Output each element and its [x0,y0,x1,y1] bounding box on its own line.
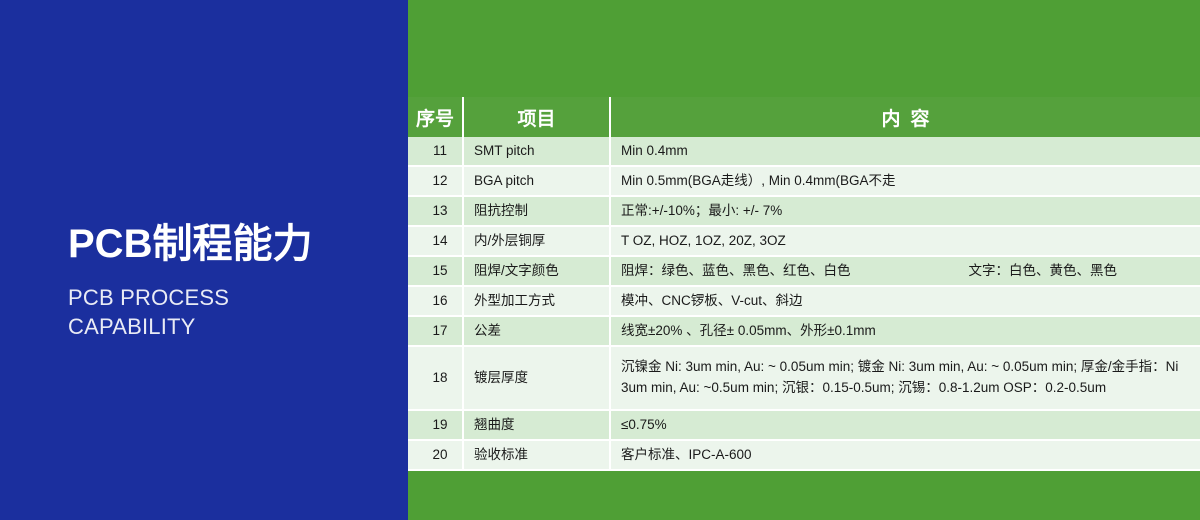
spec-table-wrap: 序号 项目 内容 11SMT pitchMin 0.4mm12BGA pitch… [408,97,1200,471]
row-content-main: Min 0.5mm(BGA走线）, Min 0.4mm(BGA不走 [621,173,896,188]
spec-table-head: 序号 项目 内容 [408,97,1200,137]
row-content: 正常:+/-10%；最小: +/- 7% [610,196,1200,226]
row-content: 阻焊：绿色、蓝色、黑色、红色、白色文字：白色、黄色、黑色 [610,256,1200,286]
row-number: 11 [408,137,463,166]
row-item-name: 公差 [463,316,610,346]
row-content: 模冲、CNC锣板、V-cut、斜边 [610,286,1200,316]
table-row: 18镀层厚度沉镍金 Ni: 3um min, Au: ~ 0.05um min;… [408,346,1200,410]
row-number: 15 [408,256,463,286]
row-number: 16 [408,286,463,316]
table-row: 12BGA pitchMin 0.5mm(BGA走线）, Min 0.4mm(B… [408,166,1200,196]
row-content: 沉镍金 Ni: 3um min, Au: ~ 0.05um min; 镀金 Ni… [610,346,1200,410]
table-header-row: 序号 项目 内容 [408,97,1200,137]
row-content-main: ≤0.75% [621,417,667,432]
row-item-name: BGA pitch [463,166,610,196]
row-item-name: 内/外层铜厚 [463,226,610,256]
right-content-panel: 序号 项目 内容 11SMT pitchMin 0.4mm12BGA pitch… [408,0,1200,520]
page-title-en-line1: PCB PROCESS [68,283,398,312]
table-row: 17公差线宽±20% 、孔径± 0.05mm、外形±0.1mm [408,316,1200,346]
row-number: 20 [408,440,463,470]
row-item-name: SMT pitch [463,137,610,166]
row-content: Min 0.4mm [610,137,1200,166]
page-title-cn: PCB制程能力 [68,222,398,266]
row-content-main: 正常:+/-10%；最小: +/- 7% [621,203,782,218]
table-row: 20验收标准客户标准、IPC-A-600 [408,440,1200,470]
row-item-name: 镀层厚度 [463,346,610,410]
table-row: 14内/外层铜厚T OZ, HOZ, 1OZ, 20Z, 3OZ [408,226,1200,256]
left-title-panel: PCB制程能力 PCB PROCESS CAPABILITY [0,0,408,520]
column-header-no: 序号 [408,97,463,137]
row-content-main: 线宽±20% 、孔径± 0.05mm、外形±0.1mm [621,323,876,338]
row-content-main: 沉镍金 Ni: 3um min, Au: ~ 0.05um min; 镀金 Ni… [621,357,1200,398]
page-title-en-line2: CAPABILITY [68,312,398,341]
slide-root: PCB制程能力 PCB PROCESS CAPABILITY 序号 项目 [0,0,1200,520]
spec-table: 序号 项目 内容 11SMT pitchMin 0.4mm12BGA pitch… [408,97,1200,471]
row-number: 19 [408,410,463,440]
title-block: PCB制程能力 PCB PROCESS CAPABILITY [68,222,398,341]
table-row: 13阻抗控制正常:+/-10%；最小: +/- 7% [408,196,1200,226]
page-title-en: PCB PROCESS CAPABILITY [68,283,398,341]
row-number: 17 [408,316,463,346]
column-header-content: 内容 [610,97,1200,137]
row-content: Min 0.5mm(BGA走线）, Min 0.4mm(BGA不走 [610,166,1200,196]
row-content: 客户标准、IPC-A-600 [610,440,1200,470]
row-item-name: 阻焊/文字颜色 [463,256,610,286]
row-content: T OZ, HOZ, 1OZ, 20Z, 3OZ [610,226,1200,256]
table-row: 19翘曲度≤0.75% [408,410,1200,440]
column-header-item: 项目 [463,97,610,137]
spec-table-body: 11SMT pitchMin 0.4mm12BGA pitchMin 0.5mm… [408,137,1200,470]
row-content-main: 模冲、CNC锣板、V-cut、斜边 [621,293,803,308]
row-number: 18 [408,346,463,410]
row-content: ≤0.75% [610,410,1200,440]
row-number: 12 [408,166,463,196]
table-row: 15阻焊/文字颜色阻焊：绿色、蓝色、黑色、红色、白色文字：白色、黄色、黑色 [408,256,1200,286]
table-row: 16外型加工方式模冲、CNC锣板、V-cut、斜边 [408,286,1200,316]
row-content-main: 客户标准、IPC-A-600 [621,447,752,462]
column-header-content-label: 内容 [871,109,939,130]
row-item-name: 阻抗控制 [463,196,610,226]
row-content-main: T OZ, HOZ, 1OZ, 20Z, 3OZ [621,233,786,248]
row-number: 14 [408,226,463,256]
row-content-main: Min 0.4mm [621,143,688,158]
row-content: 线宽±20% 、孔径± 0.05mm、外形±0.1mm [610,316,1200,346]
row-item-name: 翘曲度 [463,410,610,440]
row-item-name: 验收标准 [463,440,610,470]
row-content-main: 阻焊：绿色、蓝色、黑色、红色、白色 [621,263,851,278]
row-content-secondary: 文字：白色、黄色、黑色 [969,261,1118,281]
table-row: 11SMT pitchMin 0.4mm [408,137,1200,166]
row-number: 13 [408,196,463,226]
row-item-name: 外型加工方式 [463,286,610,316]
